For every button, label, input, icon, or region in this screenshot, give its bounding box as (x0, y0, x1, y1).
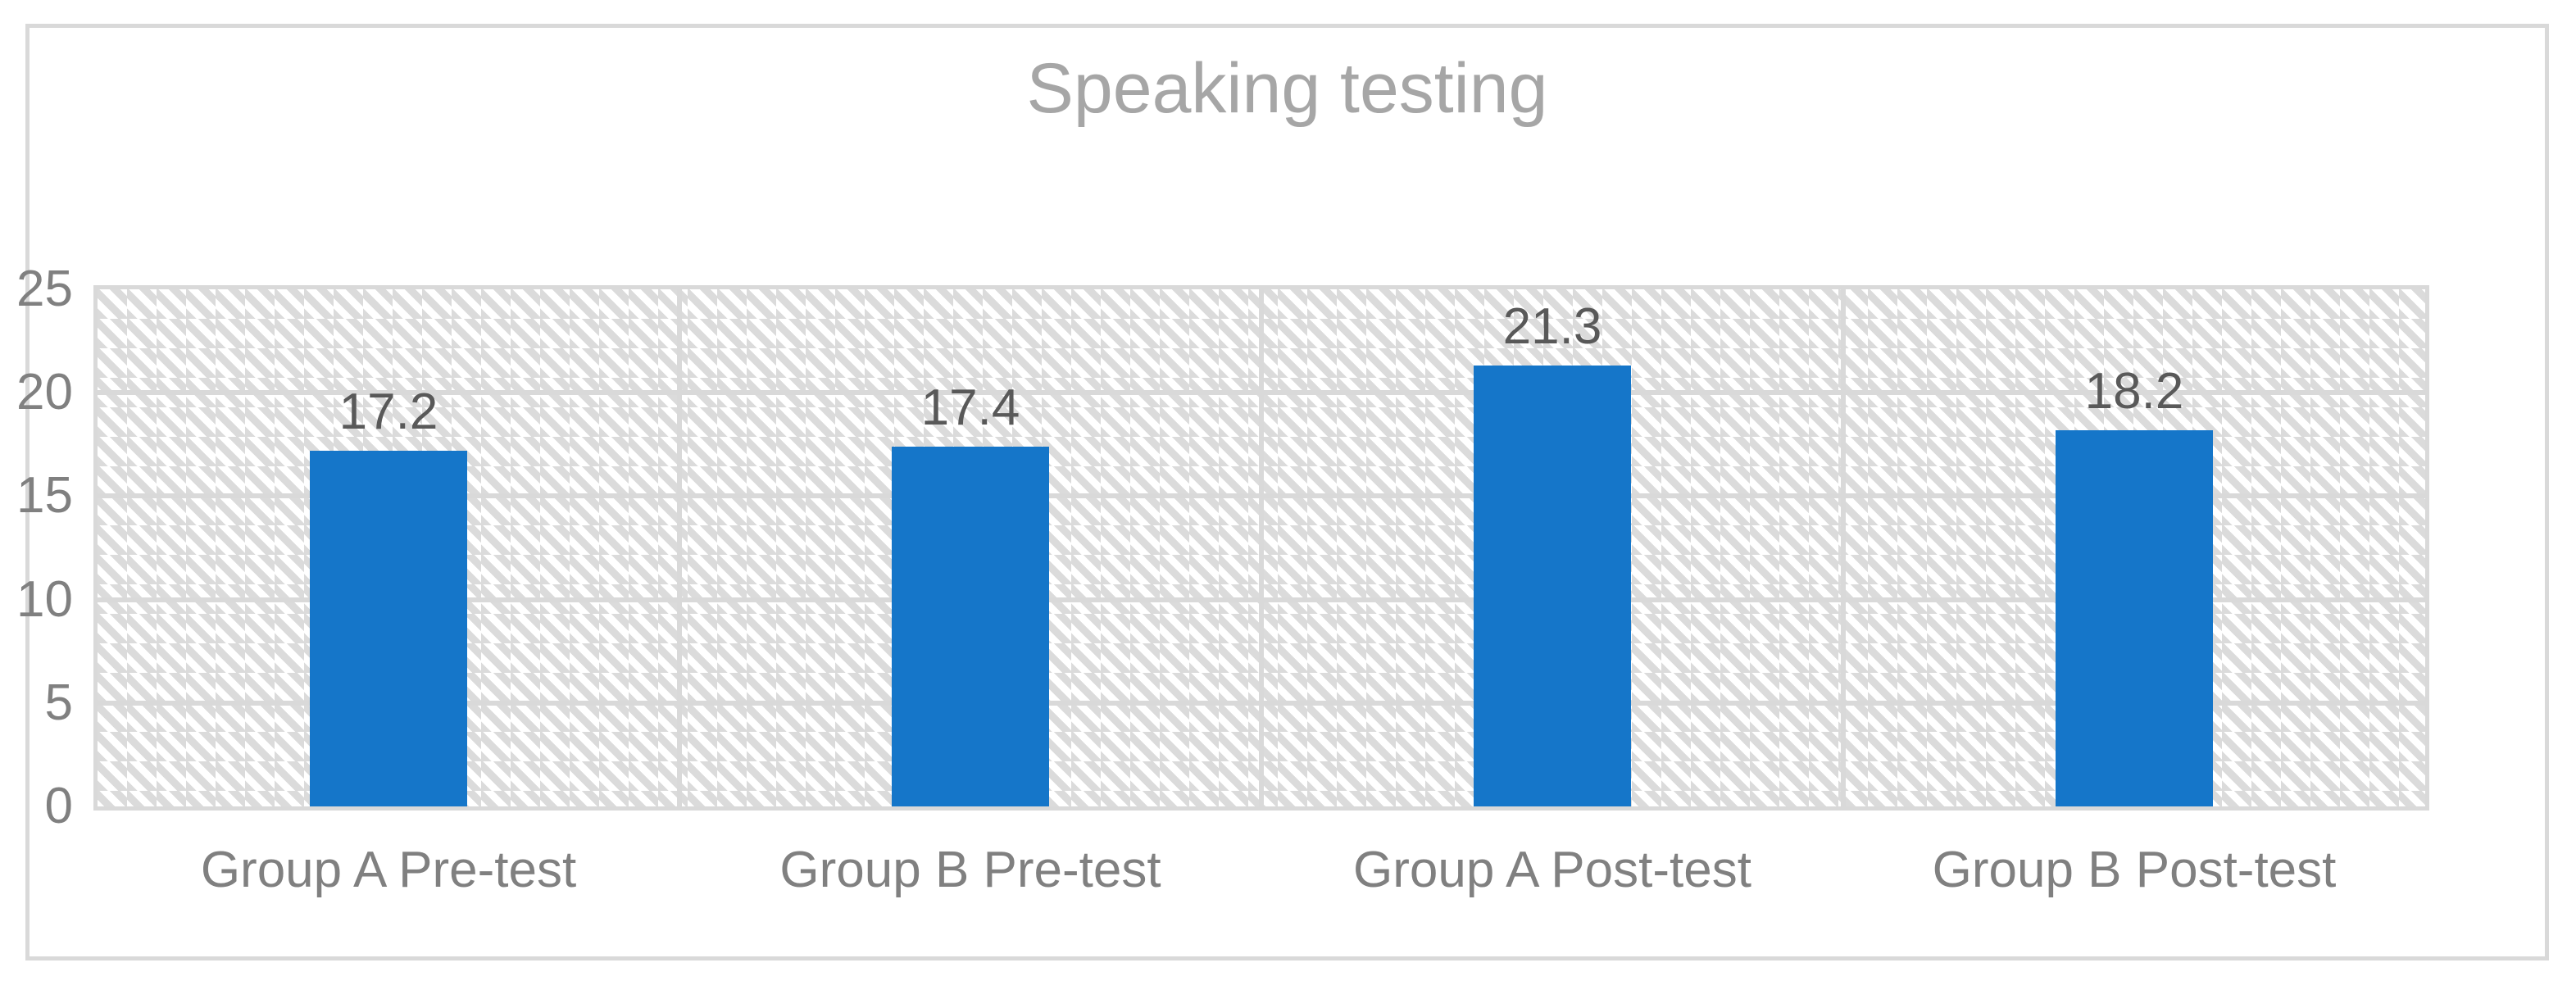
y-axis-tick-label: 15 (0, 470, 73, 521)
data-label: 17.4 (679, 383, 1261, 434)
y-axis-tick-label: 10 (0, 574, 73, 625)
x-axis-tick-label: Group B Pre-test (679, 845, 1261, 896)
gridline-vertical (677, 289, 682, 806)
y-axis-tick-label: 5 (0, 678, 73, 729)
data-label: 21.3 (1261, 302, 1843, 352)
y-axis-tick-label: 25 (0, 264, 73, 315)
gridline-vertical (1259, 289, 1264, 806)
y-axis-tick-label: 0 (0, 781, 73, 832)
plot-area (93, 285, 2429, 811)
x-axis-tick-label: Group B Post-test (1843, 845, 2425, 896)
data-label: 18.2 (1843, 366, 2425, 417)
x-axis-tick-label: Group A Pre-test (98, 845, 679, 896)
bar (892, 447, 1049, 806)
y-axis-tick-label: 20 (0, 367, 73, 418)
chart-frame: Speaking testing 2520151050 Group A Pre-… (25, 24, 2549, 960)
data-label: 17.2 (98, 387, 679, 438)
bar (310, 451, 467, 806)
chart-title: Speaking testing (30, 48, 2545, 129)
x-axis-tick-label: Group A Post-test (1261, 845, 1843, 896)
bar (2056, 430, 2213, 806)
bar (1474, 366, 1631, 806)
